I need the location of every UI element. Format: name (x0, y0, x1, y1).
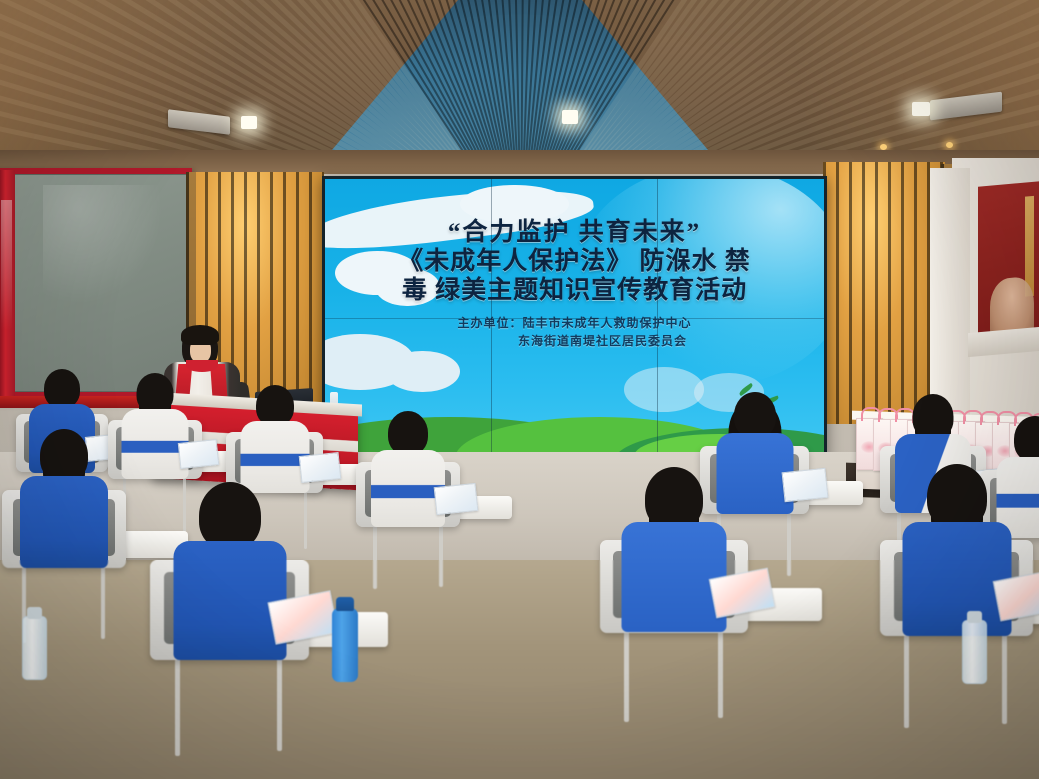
chair-leg (373, 519, 377, 589)
screen-title-block: “合力监护 共育未来” 《未成年人保护法》 防湺水 禁 毒 绿美主题知识宣传教育… (325, 218, 824, 350)
water-bottle-clear[interactable] (22, 616, 47, 680)
ceiling-light-center (562, 110, 578, 124)
bottle-cap (336, 597, 354, 611)
student-head (734, 392, 776, 438)
student-head (645, 467, 703, 530)
student-uniform (20, 476, 108, 568)
speaker-fringe (181, 325, 219, 345)
classroom-photo: “合力监护 共育未来” 《未成年人保护法》 防湺水 禁 毒 绿美主题知识宣传教育… (0, 0, 1039, 779)
bottle-cap (967, 611, 982, 623)
screen-title-line-2: 《未成年人保护法》 防湺水 禁 (325, 247, 824, 276)
chalkboard-glare (43, 185, 163, 305)
student-head (913, 394, 954, 439)
bottle-cap (27, 607, 42, 619)
screen-organizer-line-1: 主办单位：陆丰市未成年人救助保护中心 (325, 314, 824, 332)
screen-organizer-block: 主办单位：陆丰市未成年人救助保护中心 东海街道南堤社区居民委员会 (325, 314, 824, 350)
screen-title-line-3: 毒 绿美主题知识宣传教育活动 (325, 276, 824, 305)
panel-seam (325, 318, 824, 319)
student-head (388, 411, 428, 455)
student-leaflet[interactable] (782, 468, 829, 502)
student-head (137, 373, 174, 413)
chair-leg (904, 624, 909, 728)
student-head (40, 429, 88, 482)
student-uniform (902, 522, 1011, 636)
student-head (256, 385, 294, 426)
screen-organizer-line-2: 东海街道南堤社区居民委员会 (325, 332, 824, 350)
chair-leg (175, 648, 180, 756)
water-bottle-blue[interactable] (332, 608, 358, 682)
chair-leg (624, 622, 629, 722)
wall-slat-panel-right (823, 162, 945, 424)
student (2, 421, 126, 568)
student-uniform (622, 522, 727, 632)
student-leaflet[interactable] (434, 483, 479, 515)
student-leaflet[interactable] (178, 439, 220, 469)
student-head (199, 482, 261, 550)
ceiling-light-left (241, 116, 257, 129)
cloud (624, 367, 704, 411)
chalkboard-surface (14, 174, 194, 392)
student-uniform (173, 541, 286, 660)
cloud (385, 351, 460, 393)
screen-title-line-1: “合力监护 共育未来” (325, 218, 824, 247)
downlight (946, 142, 953, 148)
red-banner-poster (978, 181, 1039, 336)
water-bottle-clear[interactable] (962, 620, 987, 684)
student-head (927, 464, 987, 529)
student-head (44, 369, 80, 408)
ceiling-light-right (912, 102, 930, 116)
chalkboard-red-frame (0, 170, 15, 398)
